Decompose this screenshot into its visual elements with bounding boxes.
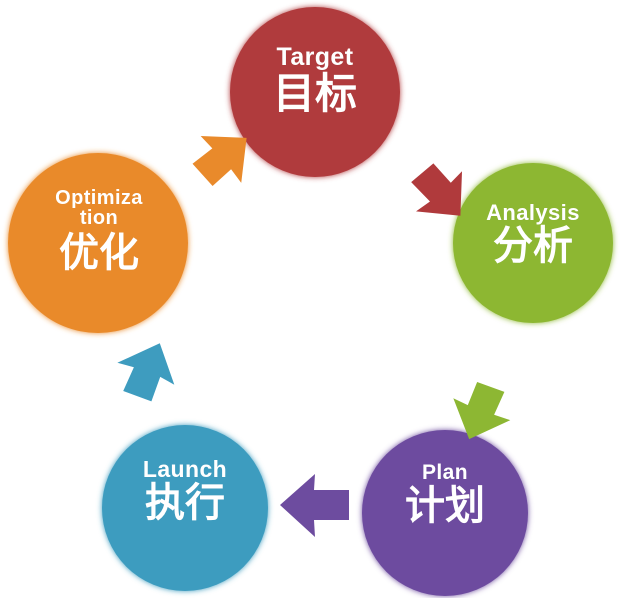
cycle-diagram: Target 目标 Analysis 分析 Plan 计划 Launch 执行 … xyxy=(0,0,625,598)
arrow-plan-launch xyxy=(280,474,349,537)
node-circle-launch[interactable] xyxy=(102,425,268,591)
node-circle-analysis[interactable] xyxy=(453,163,613,323)
arrow-launch-optimization xyxy=(108,331,186,408)
node-circle-target[interactable] xyxy=(230,7,400,177)
cycle-diagram-graphics xyxy=(0,0,625,598)
node-circle-optimization[interactable] xyxy=(8,153,188,333)
arrow-shape xyxy=(280,474,349,537)
arrow-shape xyxy=(108,331,186,408)
node-circle-plan[interactable] xyxy=(362,430,528,596)
